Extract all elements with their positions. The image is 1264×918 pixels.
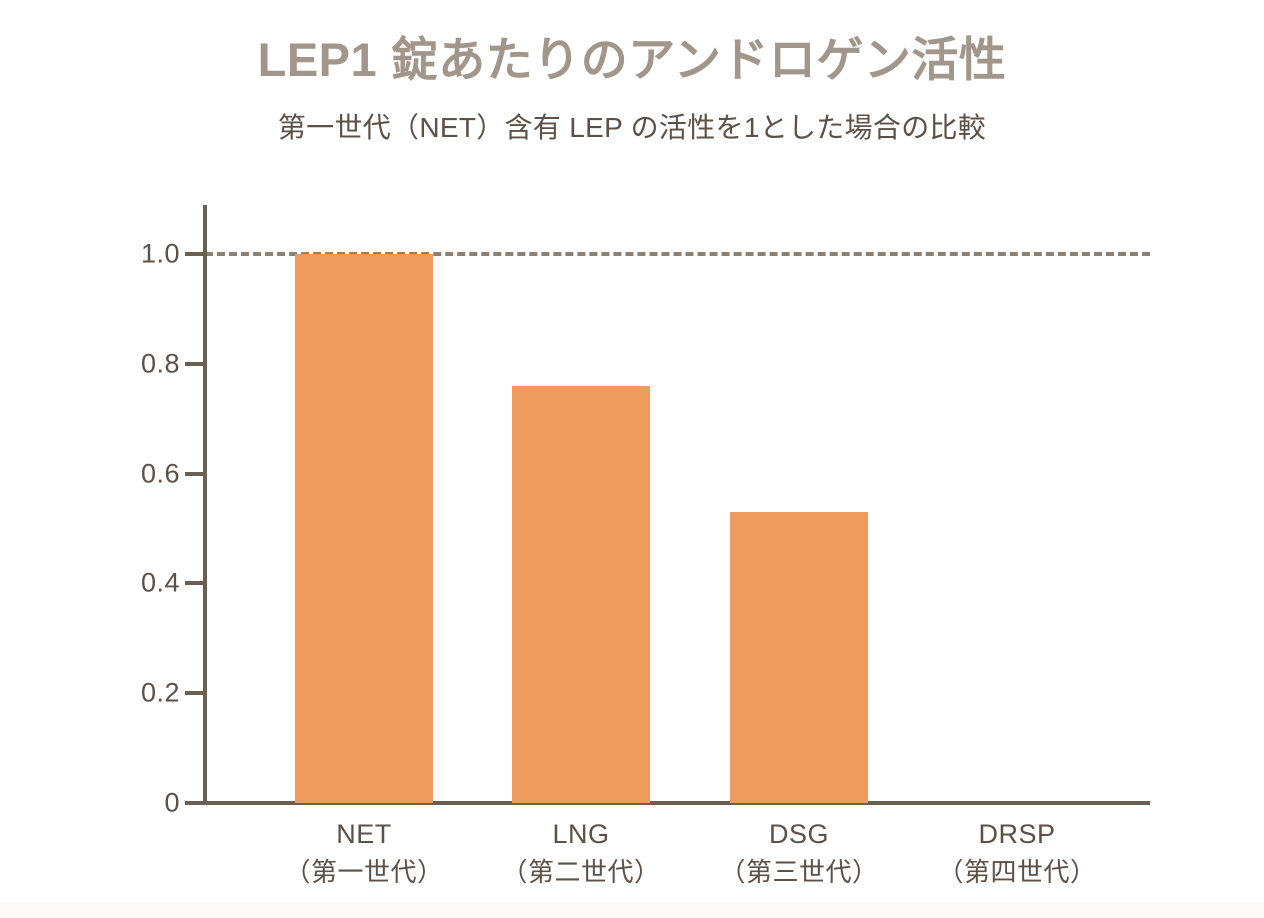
x-axis-labels: NET （第一世代） LNG （第二世代） DSG （第三世代） DRSP （第…: [0, 818, 1264, 908]
x-label-drsp-code: DRSP: [897, 818, 1137, 852]
x-label-drsp: DRSP （第四世代）: [897, 818, 1137, 890]
x-label-net-generation: （第一世代）: [244, 852, 484, 890]
bar-dsg[interactable]: [730, 512, 868, 803]
chart-figure: LEP1 錠あたりのアンドロゲン活性 第一世代（NET）含有 LEP の活性を1…: [0, 0, 1264, 918]
bar-net[interactable]: [295, 254, 433, 803]
x-label-lng-generation: （第二世代）: [461, 852, 701, 890]
x-label-dsg-code: DSG: [679, 818, 919, 852]
bars-layer: [0, 0, 1264, 918]
x-label-dsg: DSG （第三世代）: [679, 818, 919, 890]
x-label-drsp-generation: （第四世代）: [897, 852, 1137, 890]
bottom-band: [0, 902, 1264, 918]
x-label-lng-code: LNG: [461, 818, 701, 852]
x-label-net-code: NET: [244, 818, 484, 852]
x-label-net: NET （第一世代）: [244, 818, 484, 890]
bar-lng[interactable]: [512, 386, 650, 803]
x-label-lng: LNG （第二世代）: [461, 818, 701, 890]
x-label-dsg-generation: （第三世代）: [679, 852, 919, 890]
